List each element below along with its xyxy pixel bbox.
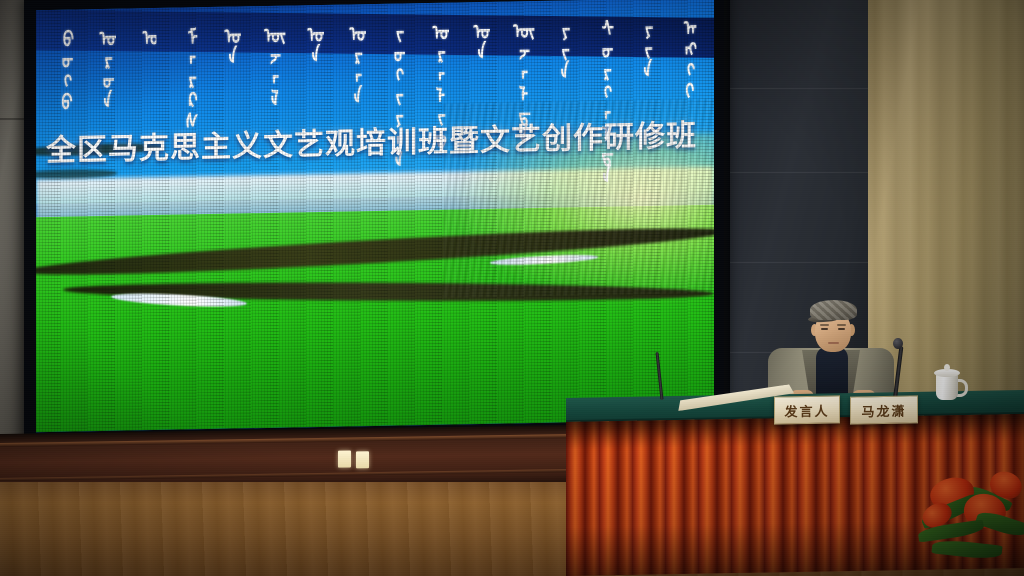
mongolian-glyph: ᠤᠨ	[471, 19, 487, 61]
eye-right	[838, 328, 845, 330]
mongolian-glyph: ᠦᠵᠡᠯ	[263, 23, 279, 107]
eye-left	[821, 328, 828, 330]
mongolian-glyph: ᠰᠤᠷᠭᠠᠯᠲᠠ	[595, 17, 611, 185]
mongolian-glyph: ᠤᠨ	[304, 22, 320, 64]
mouth	[828, 342, 839, 344]
wall-outlet-icon[interactable]	[356, 451, 369, 468]
conference-hall-scene: ᠪᠦᠬᠦ ᠣᠷᠣᠨ ᠤ ᠮᠠᠷᠺᠰ ᠤᠨ ᠦᠵᠡᠯ ᠤᠨ ᠤᠷᠠᠨ ᠵᠣᠬᠢᠶᠠ…	[0, 0, 1024, 576]
eyebrow-left	[820, 324, 829, 326]
flat-cap	[810, 300, 857, 320]
mongolian-glyph: ᠪᠦᠬᠦ	[55, 26, 71, 110]
mongolian-glyph: ᠠᠩᠭᠢ	[678, 15, 694, 99]
led-screen-frame: ᠪᠦᠬᠦ ᠣᠷᠣᠨ ᠤ ᠮᠠᠷᠺᠰ ᠤᠨ ᠦᠵᠡᠯ ᠤᠨ ᠤᠷᠠᠨ ᠵᠣᠬᠢᠶᠠ…	[24, 0, 724, 444]
wall-outlet-icon[interactable]	[338, 450, 351, 467]
mongolian-glyph: ᠶᠢᠨ	[554, 17, 570, 80]
mongolian-glyph: ᠮᠠᠷᠺᠰ	[180, 24, 196, 129]
mongolian-glyph: ᠤᠨ	[221, 23, 237, 65]
teacup-knob	[944, 364, 950, 371]
mongolian-glyph: ᠤ	[138, 25, 154, 46]
placard-role[interactable]: 发言人	[774, 395, 840, 424]
microphone-icon[interactable]	[893, 338, 903, 349]
mongolian-title-text: ᠪᠦᠬᠦ ᠣᠷᠣᠨ ᠤ ᠮᠠᠷᠺᠰ ᠤᠨ ᠦᠵᠡᠯ ᠤᠨ ᠤᠷᠠᠨ ᠵᠣᠬᠢᠶᠠ…	[53, 15, 697, 120]
teacup[interactable]	[934, 364, 960, 400]
placard-person-name[interactable]: 马龙潇	[850, 395, 918, 424]
eyebrow-right	[837, 324, 846, 326]
flower-arrangement	[916, 458, 1024, 576]
mongolian-glyph: ᠶᠢᠨ	[637, 16, 653, 79]
mongolian-glyph: ᠣᠷᠣᠨ	[97, 26, 113, 110]
leaf	[931, 538, 1002, 560]
mongolian-glyph: ᠤᠷᠠᠨ	[346, 21, 362, 105]
teacup-body	[936, 373, 958, 400]
led-screen-display: ᠪᠦᠬᠦ ᠣᠷᠣᠨ ᠤ ᠮᠠᠷᠺᠰ ᠤᠨ ᠦᠵᠡᠯ ᠤᠨ ᠤᠷᠠᠨ ᠵᠣᠬᠢᠶᠠ…	[36, 0, 714, 432]
